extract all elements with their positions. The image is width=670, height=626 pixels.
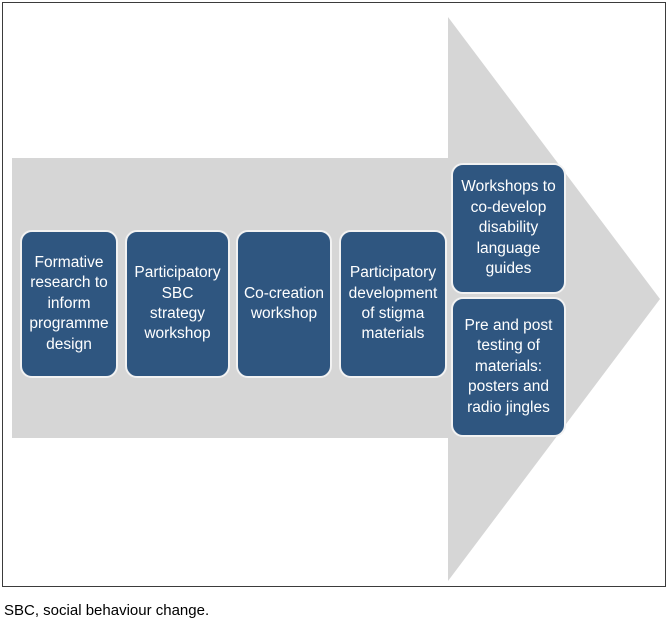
figure-panel: Formative research to inform programme d… (2, 2, 666, 587)
process-step-label-6: Pre and post testing of materials: poste… (458, 316, 559, 418)
process-step-label-5: Workshops to co-develop disability langu… (458, 177, 559, 279)
process-step-label-4: Participatory development of stigma mate… (346, 263, 440, 345)
process-step-box-4[interactable]: Participatory development of stigma mate… (339, 230, 447, 378)
process-step-box-2[interactable]: Participatory SBC strategy workshop (125, 230, 230, 378)
process-step-box-6[interactable]: Pre and post testing of materials: poste… (451, 297, 566, 437)
figure-caption: SBC, social behaviour change. (4, 602, 664, 620)
process-step-box-3[interactable]: Co-creation workshop (236, 230, 332, 378)
process-step-box-5[interactable]: Workshops to co-develop disability langu… (451, 163, 566, 294)
process-step-label-1: Formative research to inform programme d… (27, 253, 111, 355)
figure-root: Formative research to inform programme d… (0, 0, 670, 626)
process-step-label-3: Co-creation workshop (243, 284, 325, 325)
process-step-box-1[interactable]: Formative research to inform programme d… (20, 230, 118, 378)
process-step-label-2: Participatory SBC strategy workshop (132, 263, 223, 345)
